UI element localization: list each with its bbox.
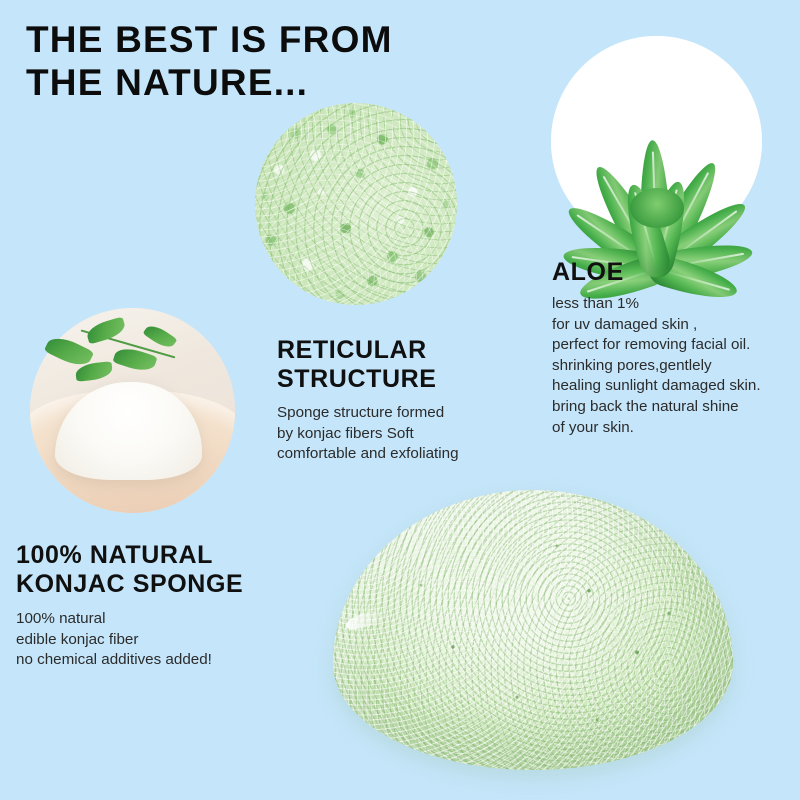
sponge-macro-texture-photo — [255, 103, 457, 305]
reticular-structure-body: Sponge structure formed by konjac fibers… — [277, 403, 527, 465]
feature-block-natural-konjac-sponge: 100% NATURAL KONJAC SPONGE 100% natural … — [16, 541, 286, 671]
sponge-speck-texture — [333, 490, 733, 770]
sponge-texture-grain-overlay — [255, 103, 457, 305]
konjac-sponge-title: 100% NATURAL KONJAC SPONGE — [16, 541, 286, 599]
aloe-vera-plant-photo — [551, 36, 762, 247]
product-infographic-poster: THE BEST IS FROM THE NATURE... — [0, 0, 800, 800]
feature-block-aloe: ALOE less than 1% for uv damaged skin , … — [552, 258, 800, 438]
aloe-title: ALOE — [552, 258, 800, 287]
konjac-sponge-product-photo — [333, 490, 733, 770]
feature-block-reticular-structure: RETICULAR STRUCTURE Sponge structure for… — [277, 336, 527, 465]
aloe-plant-core — [630, 188, 684, 228]
konjac-powder-bowl-photo — [30, 308, 235, 513]
reticular-structure-title: RETICULAR STRUCTURE — [277, 336, 527, 394]
page-title: THE BEST IS FROM THE NATURE... — [26, 18, 546, 104]
aloe-body: less than 1% for uv damaged skin , perfe… — [552, 294, 800, 438]
konjac-sponge-body: 100% natural edible konjac fiber no chem… — [16, 609, 286, 671]
